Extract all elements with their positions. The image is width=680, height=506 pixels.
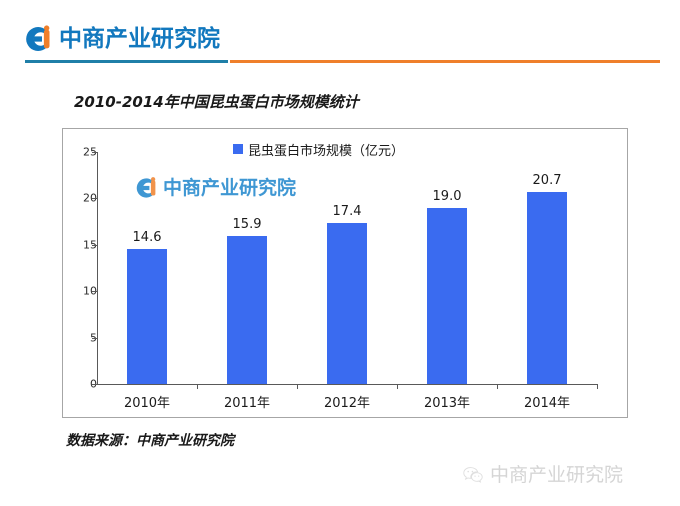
brand-name: 中商产业研究院 — [59, 24, 220, 54]
corner-watermark: 中商产业研究院 — [462, 462, 623, 488]
bar — [527, 192, 567, 384]
bar — [127, 249, 167, 384]
bar — [227, 236, 267, 384]
x-axis-category-label: 2010年 — [124, 392, 170, 411]
brand-logo: 中商产业研究院 — [24, 22, 220, 56]
legend-label: 昆虫蛋白市场规模（亿元） — [248, 140, 404, 159]
bar-value-label: 14.6 — [133, 230, 162, 245]
y-axis-tick-mark — [92, 245, 97, 246]
y-axis-line — [97, 152, 98, 385]
page-header: 中商产业研究院 — [0, 0, 680, 72]
y-axis-tick-mark — [92, 291, 97, 292]
bar-value-label: 15.9 — [233, 217, 262, 232]
y-axis-tick-mark — [92, 338, 97, 339]
legend-swatch — [233, 144, 243, 154]
cshisi-circle-logo-icon — [24, 24, 54, 54]
y-axis-tick-mark — [92, 152, 97, 153]
x-axis-tick-mark — [497, 384, 498, 389]
x-axis-line — [97, 384, 597, 385]
cshisi-circle-logo-icon — [135, 176, 159, 200]
x-axis-category-label: 2012年 — [324, 392, 370, 411]
bar — [327, 223, 367, 384]
y-axis-tick-mark — [92, 384, 97, 385]
plot-watermark: 中商产业研究院 — [135, 175, 296, 201]
header-rule-right — [230, 60, 660, 63]
x-axis-tick-mark — [597, 384, 598, 389]
y-axis-tick-mark — [92, 198, 97, 199]
header-rule-left — [25, 60, 228, 63]
x-axis-tick-mark — [197, 384, 198, 389]
plot-watermark-label: 中商产业研究院 — [163, 176, 296, 200]
chart-legend: 昆虫蛋白市场规模（亿元） — [233, 141, 404, 157]
chart-title: 2010-2014年中国昆虫蛋白市场规模统计 — [74, 91, 359, 112]
bar — [427, 208, 467, 384]
x-axis-tick-mark — [397, 384, 398, 389]
chart-frame: 昆虫蛋白市场规模（亿元） 中商产业研究院 0510152025 14.615.9… — [62, 128, 628, 418]
x-axis-category-label: 2011年 — [224, 392, 270, 411]
bar-value-label: 17.4 — [333, 204, 362, 219]
x-axis-category-label: 2013年 — [424, 392, 470, 411]
source-note: 数据来源：中商产业研究院 — [66, 430, 234, 450]
bar-value-label: 19.0 — [433, 189, 462, 204]
x-axis-tick-mark — [297, 384, 298, 389]
wechat-icon — [462, 464, 484, 486]
x-axis-category-label: 2014年 — [524, 392, 570, 411]
corner-watermark-label: 中商产业研究院 — [490, 464, 623, 486]
bar-value-label: 20.7 — [533, 173, 562, 188]
